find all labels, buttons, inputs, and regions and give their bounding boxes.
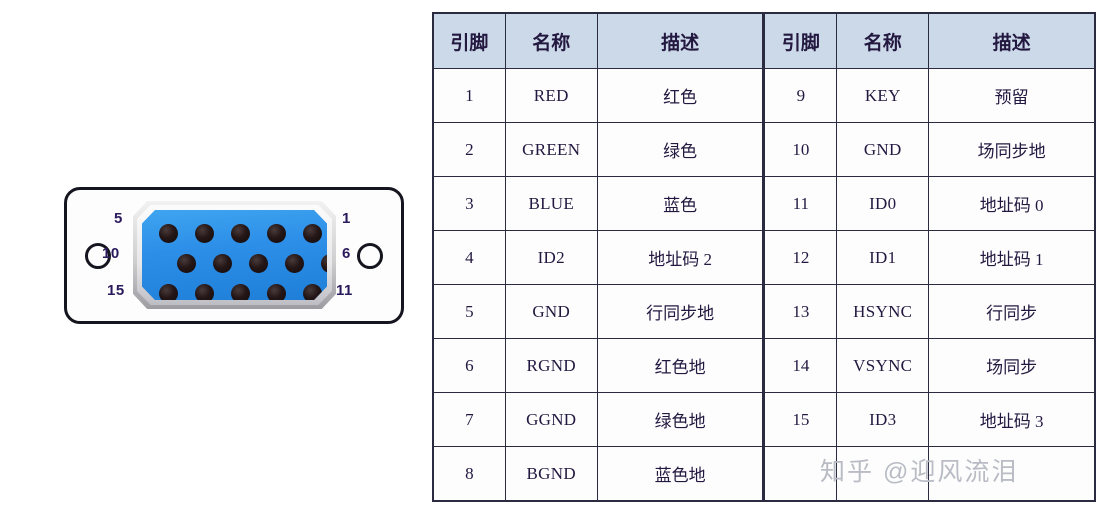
cell-desc-left: 红色 <box>597 69 764 123</box>
cell-desc-left: 绿色 <box>597 123 764 177</box>
cell-pin-right: 12 <box>764 231 837 285</box>
cell-desc-right: 地址码 0 <box>929 177 1095 231</box>
cell-pin-right: 14 <box>764 339 837 393</box>
cell-name-right: ID1 <box>837 231 929 285</box>
cell-name-right: VSYNC <box>837 339 929 393</box>
cell-pin-right: 15 <box>764 393 837 447</box>
cell-pin-right: 9 <box>764 69 837 123</box>
screw-hole-right <box>357 243 383 269</box>
cell-desc-left: 绿色地 <box>597 393 764 447</box>
connector-pin <box>285 254 304 273</box>
cell-name-right: KEY <box>837 69 929 123</box>
cell-name-left: BLUE <box>505 177 597 231</box>
table-row: 7GGND绿色地15ID3地址码 3 <box>434 393 1095 447</box>
d-shell-outer <box>133 201 336 309</box>
column-header-name-right: 名称 <box>837 14 929 69</box>
cell-pin-left: 4 <box>434 231 506 285</box>
cell-desc-right: 地址码 3 <box>929 393 1095 447</box>
connector-pin <box>177 254 196 273</box>
cell-name-right <box>837 447 929 501</box>
table-header: 引脚 名称 描述 引脚 名称 描述 <box>434 14 1095 69</box>
table-row: 2GREEN绿色10GND场同步地 <box>434 123 1095 177</box>
pin-number-label: 11 <box>336 282 353 299</box>
cell-desc-left: 蓝色 <box>597 177 764 231</box>
cell-desc-right: 场同步地 <box>929 123 1095 177</box>
cell-name-left: RGND <box>505 339 597 393</box>
connector-pin <box>159 224 178 243</box>
cell-desc-right: 地址码 1 <box>929 231 1095 285</box>
cell-desc-right: 预留 <box>929 69 1095 123</box>
pin-number-label: 15 <box>107 282 125 299</box>
cell-name-left: GND <box>505 285 597 339</box>
column-header-pin-left: 引脚 <box>434 14 506 69</box>
cell-pin-left: 1 <box>434 69 506 123</box>
cell-pin-left: 6 <box>434 339 506 393</box>
connector-pin <box>303 224 322 243</box>
cell-name-right: GND <box>837 123 929 177</box>
pin-number-label: 5 <box>114 210 123 227</box>
cell-pin-left: 3 <box>434 177 506 231</box>
table-row: 8BGND蓝色地 <box>434 447 1095 501</box>
d-shell-pin-field <box>142 210 327 300</box>
table-row: 3BLUE蓝色11ID0地址码 0 <box>434 177 1095 231</box>
cell-pin-left: 5 <box>434 285 506 339</box>
pin-number-label: 10 <box>102 245 120 262</box>
cell-desc-right: 场同步 <box>929 339 1095 393</box>
cell-name-left: GGND <box>505 393 597 447</box>
cell-pin-right: 13 <box>764 285 837 339</box>
connector-pin <box>267 224 286 243</box>
table-row: 5GND行同步地13HSYNC行同步 <box>434 285 1095 339</box>
cell-pin-left: 8 <box>434 447 506 501</box>
vga-pinout-table-container: 引脚 名称 描述 引脚 名称 描述 1RED红色9KEY预留2GREEN绿色10… <box>433 13 1095 495</box>
column-header-desc-right: 描述 <box>929 14 1095 69</box>
cell-desc-left: 地址码 2 <box>597 231 764 285</box>
column-header-desc-left: 描述 <box>597 14 764 69</box>
cell-pin-right <box>764 447 837 501</box>
table-row: 4ID2地址码 212ID1地址码 1 <box>434 231 1095 285</box>
pin-number-label: 6 <box>342 245 351 262</box>
cell-pin-right: 11 <box>764 177 837 231</box>
cell-desc-left: 红色地 <box>597 339 764 393</box>
connector-pin <box>231 224 250 243</box>
cell-pin-left: 2 <box>434 123 506 177</box>
cell-name-left: GREEN <box>505 123 597 177</box>
table-body: 1RED红色9KEY预留2GREEN绿色10GND场同步地3BLUE蓝色11ID… <box>434 69 1095 501</box>
connector-pin <box>213 254 232 273</box>
cell-name-left: RED <box>505 69 597 123</box>
cell-name-right: HSYNC <box>837 285 929 339</box>
column-header-pin-right: 引脚 <box>764 14 837 69</box>
cell-name-right: ID0 <box>837 177 929 231</box>
cell-desc-right: 行同步 <box>929 285 1095 339</box>
cell-name-left: BGND <box>505 447 597 501</box>
column-header-name-left: 名称 <box>505 14 597 69</box>
table-header-row: 引脚 名称 描述 引脚 名称 描述 <box>434 14 1095 69</box>
table-row: 1RED红色9KEY预留 <box>434 69 1095 123</box>
cell-pin-right: 10 <box>764 123 837 177</box>
connector-pin <box>195 224 214 243</box>
cell-desc-left: 蓝色地 <box>597 447 764 501</box>
connector-pin <box>249 254 268 273</box>
cell-name-right: ID3 <box>837 393 929 447</box>
cell-name-left: ID2 <box>505 231 597 285</box>
cell-desc-right <box>929 447 1095 501</box>
pin-number-label: 1 <box>342 210 351 227</box>
vga-pinout-table: 引脚 名称 描述 引脚 名称 描述 1RED红色9KEY预留2GREEN绿色10… <box>433 13 1095 501</box>
vga-connector-diagram: 511061511 <box>64 187 404 324</box>
cell-desc-left: 行同步地 <box>597 285 764 339</box>
cell-pin-left: 7 <box>434 393 506 447</box>
table-row: 6RGND红色地14VSYNC场同步 <box>434 339 1095 393</box>
